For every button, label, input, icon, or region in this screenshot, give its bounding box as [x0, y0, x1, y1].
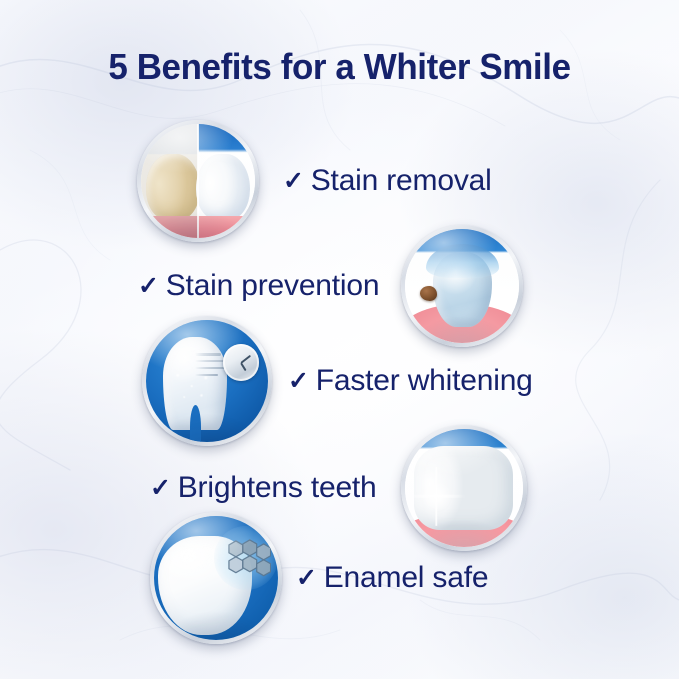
hex-crystal-cluster-icon	[221, 533, 271, 583]
check-icon: ✓	[296, 563, 317, 593]
tooth-enamel-hex-crystal-icon	[150, 512, 282, 644]
benefit-label: ✓Stain prevention	[138, 269, 379, 303]
check-icon: ✓	[138, 271, 159, 301]
check-icon: ✓	[288, 366, 309, 396]
benefit-label: ✓Faster whitening	[288, 364, 533, 398]
benefit-label-text: Stain removal	[311, 164, 492, 197]
stain-particle	[420, 286, 437, 301]
benefit-label: ✓Brightens teeth	[150, 471, 377, 505]
benefit-label-text: Stain prevention	[166, 269, 380, 302]
check-icon: ✓	[283, 166, 304, 196]
sparkle-icon	[421, 481, 452, 512]
benefit-label: ✓Stain removal	[283, 164, 492, 198]
benefit-row-enamel-safe: ✓Enamel safe	[150, 512, 488, 644]
page-title: 5 Benefits for a Whiter Smile	[10, 46, 669, 88]
check-icon: ✓	[150, 473, 171, 503]
benefit-label: ✓Enamel safe	[296, 561, 488, 595]
benefit-label-text: Faster whitening	[316, 364, 533, 397]
benefits-poster: 5 Benefits for a Whiter Smile ✓Stain rem…	[0, 0, 679, 679]
benefit-label-text: Enamel safe	[324, 561, 489, 594]
benefit-row-stain-removal: ✓Stain removal	[137, 120, 492, 242]
before-after-teeth-icon	[137, 120, 259, 242]
benefit-label-text: Brightens teeth	[178, 471, 377, 504]
